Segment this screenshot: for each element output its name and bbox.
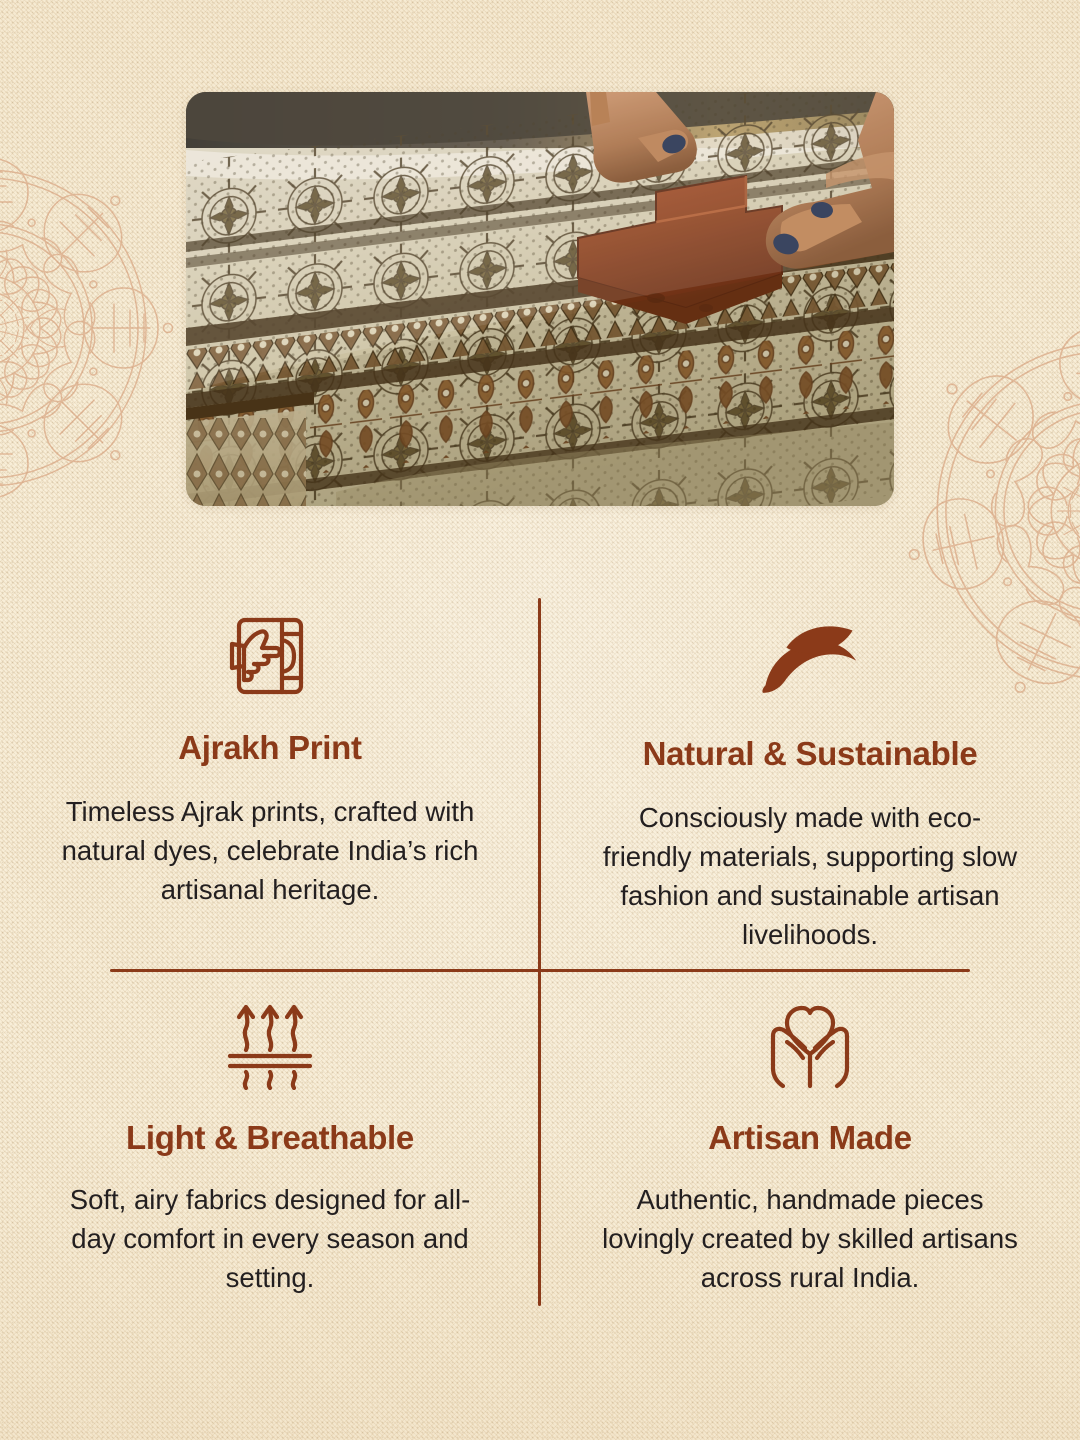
feature-title: Ajrakh Print (178, 730, 361, 766)
ajrakh-block-printing-photo (186, 92, 894, 506)
hand-block-stamp-icon (218, 604, 322, 708)
feature-card-ajrakh-print: Ajrakh Print Timeless Ajrak prints, craf… (0, 590, 540, 970)
breathable-fabric-icon (218, 992, 322, 1096)
feature-card-artisan-made: Artisan Made Authentic, handmade pieces … (540, 970, 1080, 1320)
feature-grid: Ajrakh Print Timeless Ajrak prints, craf… (0, 590, 1080, 1320)
leaf-icon (758, 604, 862, 708)
mandala-ornament-left (0, 128, 188, 528)
feature-description: Timeless Ajrak prints, crafted with natu… (60, 792, 480, 909)
feature-description: Authentic, handmade pieces lovingly crea… (600, 1180, 1020, 1297)
feature-title: Natural & Sustainable (643, 736, 978, 772)
feature-title: Light & Breathable (126, 1120, 414, 1156)
feature-card-natural-sustainable: Natural & Sustainable Consciously made w… (540, 590, 1080, 970)
feature-description: Soft, airy fabrics designed for all-day … (60, 1180, 480, 1297)
feature-card-light-breathable: Light & Breathable Soft, airy fabrics de… (0, 970, 540, 1320)
feature-title: Artisan Made (708, 1120, 912, 1156)
infographic-page: Ajrakh Print Timeless Ajrak prints, craf… (0, 0, 1080, 1440)
hands-holding-heart-icon (758, 992, 862, 1096)
feature-description: Consciously made with eco-friendly mater… (600, 798, 1020, 954)
